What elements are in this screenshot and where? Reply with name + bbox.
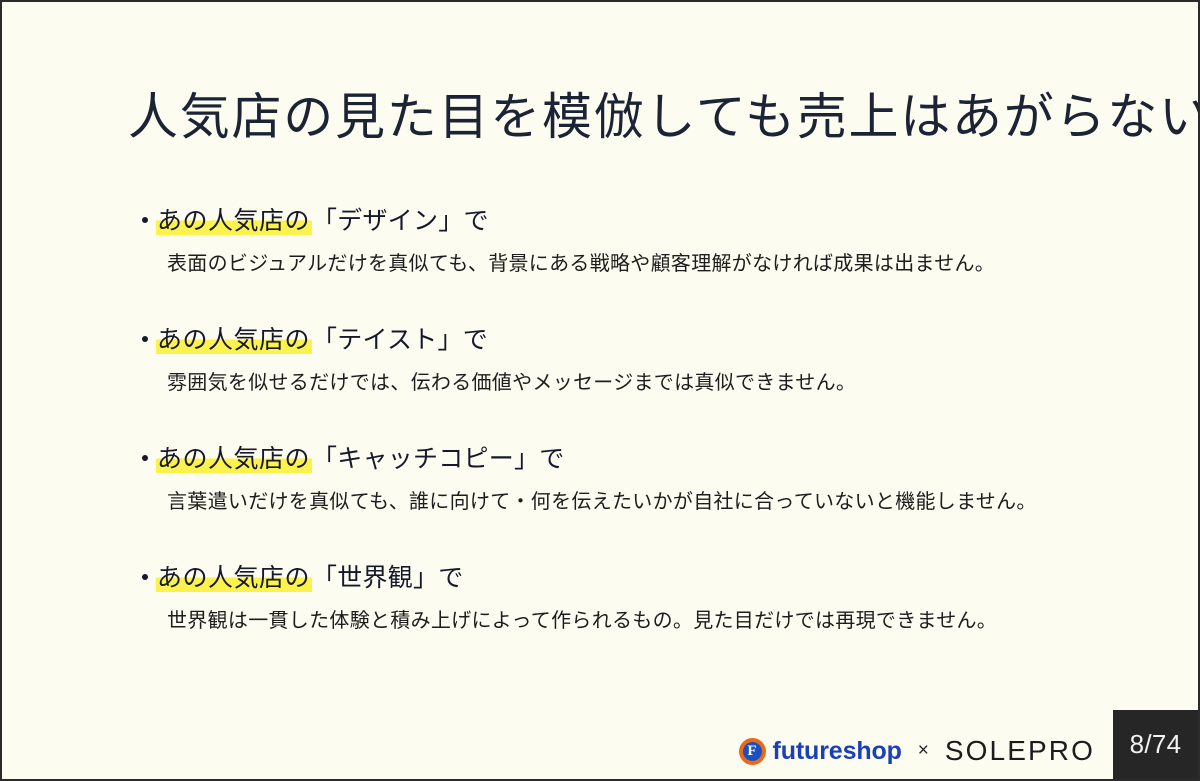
- bullet-list: あの人気店の「デザイン」で 表面のビジュアルだけを真似ても、背景にある戦略や顧客…: [2, 198, 1200, 674]
- list-item: あの人気店の「キャッチコピー」で 言葉遣いだけを真似ても、誰に向けて・何を伝えた…: [2, 436, 1200, 555]
- page-title: 人気店の見た目を模倣しても売上はあがらない: [128, 88, 1200, 147]
- bullet-body: 世界観は一貫した体験と積み上げによって作られるもの。見た目だけでは再現できません…: [167, 607, 997, 636]
- slide-canvas: 人気店の見た目を模倣しても売上はあがらない あの人気店の「デザイン」で 表面のビ…: [0, 0, 1200, 781]
- heading-rest: 「テイスト」で: [312, 326, 488, 354]
- bullet-heading: あの人気店の「キャッチコピー」で: [142, 442, 565, 477]
- heading-rest: 「デザイン」で: [312, 207, 489, 235]
- heading-rest: 「世界観」で: [312, 564, 464, 592]
- futureshop-f-letter: F: [743, 742, 762, 761]
- highlighted-phrase: あの人気店の: [156, 445, 312, 473]
- list-item: あの人気店の「テイスト」で 雰囲気を似せるだけでは、伝わる価値やメッセージまでは…: [2, 317, 1200, 436]
- bullet-dot-icon: [142, 336, 148, 342]
- slide-footer: F futureshop × SOLEPRO 8/74: [2, 709, 1198, 779]
- bullet-heading: あの人気店の「テイスト」で: [142, 323, 488, 358]
- brand-bar: F futureshop × SOLEPRO: [739, 735, 1096, 767]
- futureshop-wordmark: futureshop: [773, 737, 902, 766]
- futureshop-logo: F futureshop: [739, 737, 902, 766]
- bullet-body: 表面のビジュアルだけを真似ても、背景にある戦略や顧客理解がなければ成果は出ません…: [167, 250, 995, 279]
- bullet-heading: あの人気店の「世界観」で: [142, 561, 464, 596]
- bullet-dot-icon: [142, 574, 148, 580]
- bullet-body: 言葉遣いだけを真似ても、誰に向けて・何を伝えたいかが自社に合っていないと機能しま…: [167, 488, 1037, 517]
- bullet-dot-icon: [142, 455, 148, 461]
- highlighted-phrase: あの人気店の: [156, 326, 312, 354]
- futureshop-f-icon: F: [739, 738, 766, 765]
- bullet-body: 雰囲気を似せるだけでは、伝わる価値やメッセージまでは真似できません。: [167, 369, 856, 398]
- highlighted-phrase: あの人気店の: [156, 207, 312, 235]
- solepro-wordmark: SOLEPRO: [945, 735, 1095, 767]
- list-item: あの人気店の「世界観」で 世界観は一貫した体験と積み上げによって作られるもの。見…: [2, 555, 1200, 674]
- bullet-dot-icon: [142, 217, 148, 223]
- multiply-icon: ×: [916, 740, 931, 762]
- bullet-heading: あの人気店の「デザイン」で: [142, 204, 489, 239]
- highlighted-phrase: あの人気店の: [156, 564, 312, 592]
- page-indicator: 8/74: [1113, 710, 1198, 779]
- heading-rest: 「キャッチコピー」で: [312, 445, 565, 473]
- list-item: あの人気店の「デザイン」で 表面のビジュアルだけを真似ても、背景にある戦略や顧客…: [2, 198, 1200, 317]
